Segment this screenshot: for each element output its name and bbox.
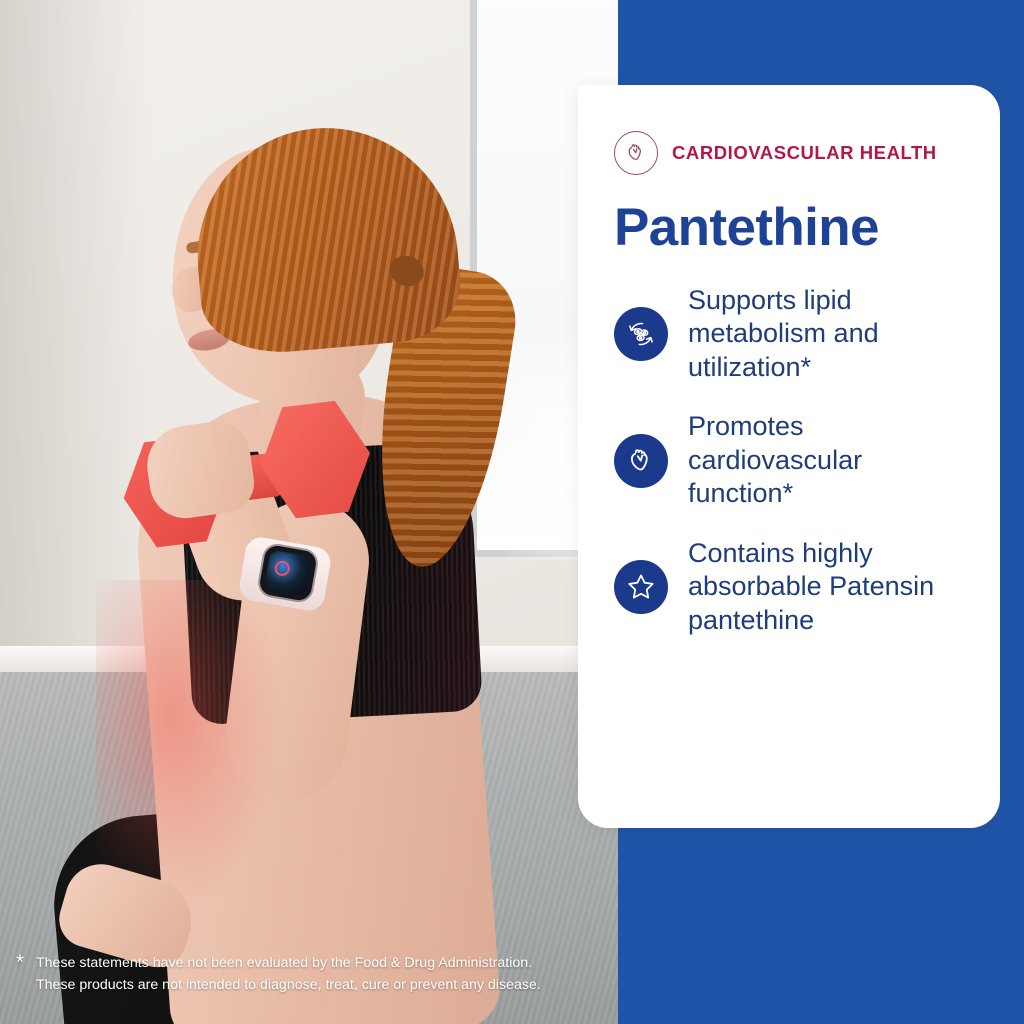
star-icon — [614, 560, 668, 614]
dumbbell-right-head — [254, 397, 377, 522]
benefit-text: Supports lipid metabolism and utilizatio… — [688, 284, 974, 384]
disclaimer-asterisk: * — [16, 952, 24, 973]
smartwatch-face — [264, 550, 312, 597]
lipid-metabolism-icon — [614, 307, 668, 361]
category-badge: CARDIOVASCULAR HEALTH — [614, 131, 974, 175]
product-title: Pantethine — [614, 201, 974, 254]
benefit-text: Promotes cardiovascular function* — [688, 410, 974, 510]
infographic-canvas: CARDIOVASCULAR HEALTH Pantethine — [0, 0, 1024, 1024]
fda-disclaimer: * These statements have not been evaluat… — [16, 952, 576, 996]
badge-label: CARDIOVASCULAR HEALTH — [672, 142, 937, 164]
card-content: CARDIOVASCULAR HEALTH Pantethine — [614, 131, 974, 663]
content-card: CARDIOVASCULAR HEALTH Pantethine — [578, 85, 1000, 828]
benefit-item: Contains highly absorbable Patensin pant… — [614, 537, 974, 637]
benefit-item: Promotes cardiovascular function* — [614, 410, 974, 510]
disclaimer-lines: These statements have not been evaluated… — [36, 952, 576, 996]
hero-photo — [0, 0, 620, 1024]
benefits-list: Supports lipid metabolism and utilizatio… — [614, 284, 974, 637]
disclaimer-line-2: These products are not intended to diagn… — [36, 974, 576, 996]
disclaimer-line-1: These statements have not been evaluated… — [36, 952, 576, 974]
disclaimer-clip: * These statements have not been evaluat… — [0, 930, 578, 1024]
anatomical-heart-icon — [614, 131, 658, 175]
photo-smartwatch — [258, 544, 318, 602]
benefit-text: Contains highly absorbable Patensin pant… — [688, 537, 974, 637]
anatomical-heart-icon — [614, 434, 668, 488]
benefit-item: Supports lipid metabolism and utilizatio… — [614, 284, 974, 384]
